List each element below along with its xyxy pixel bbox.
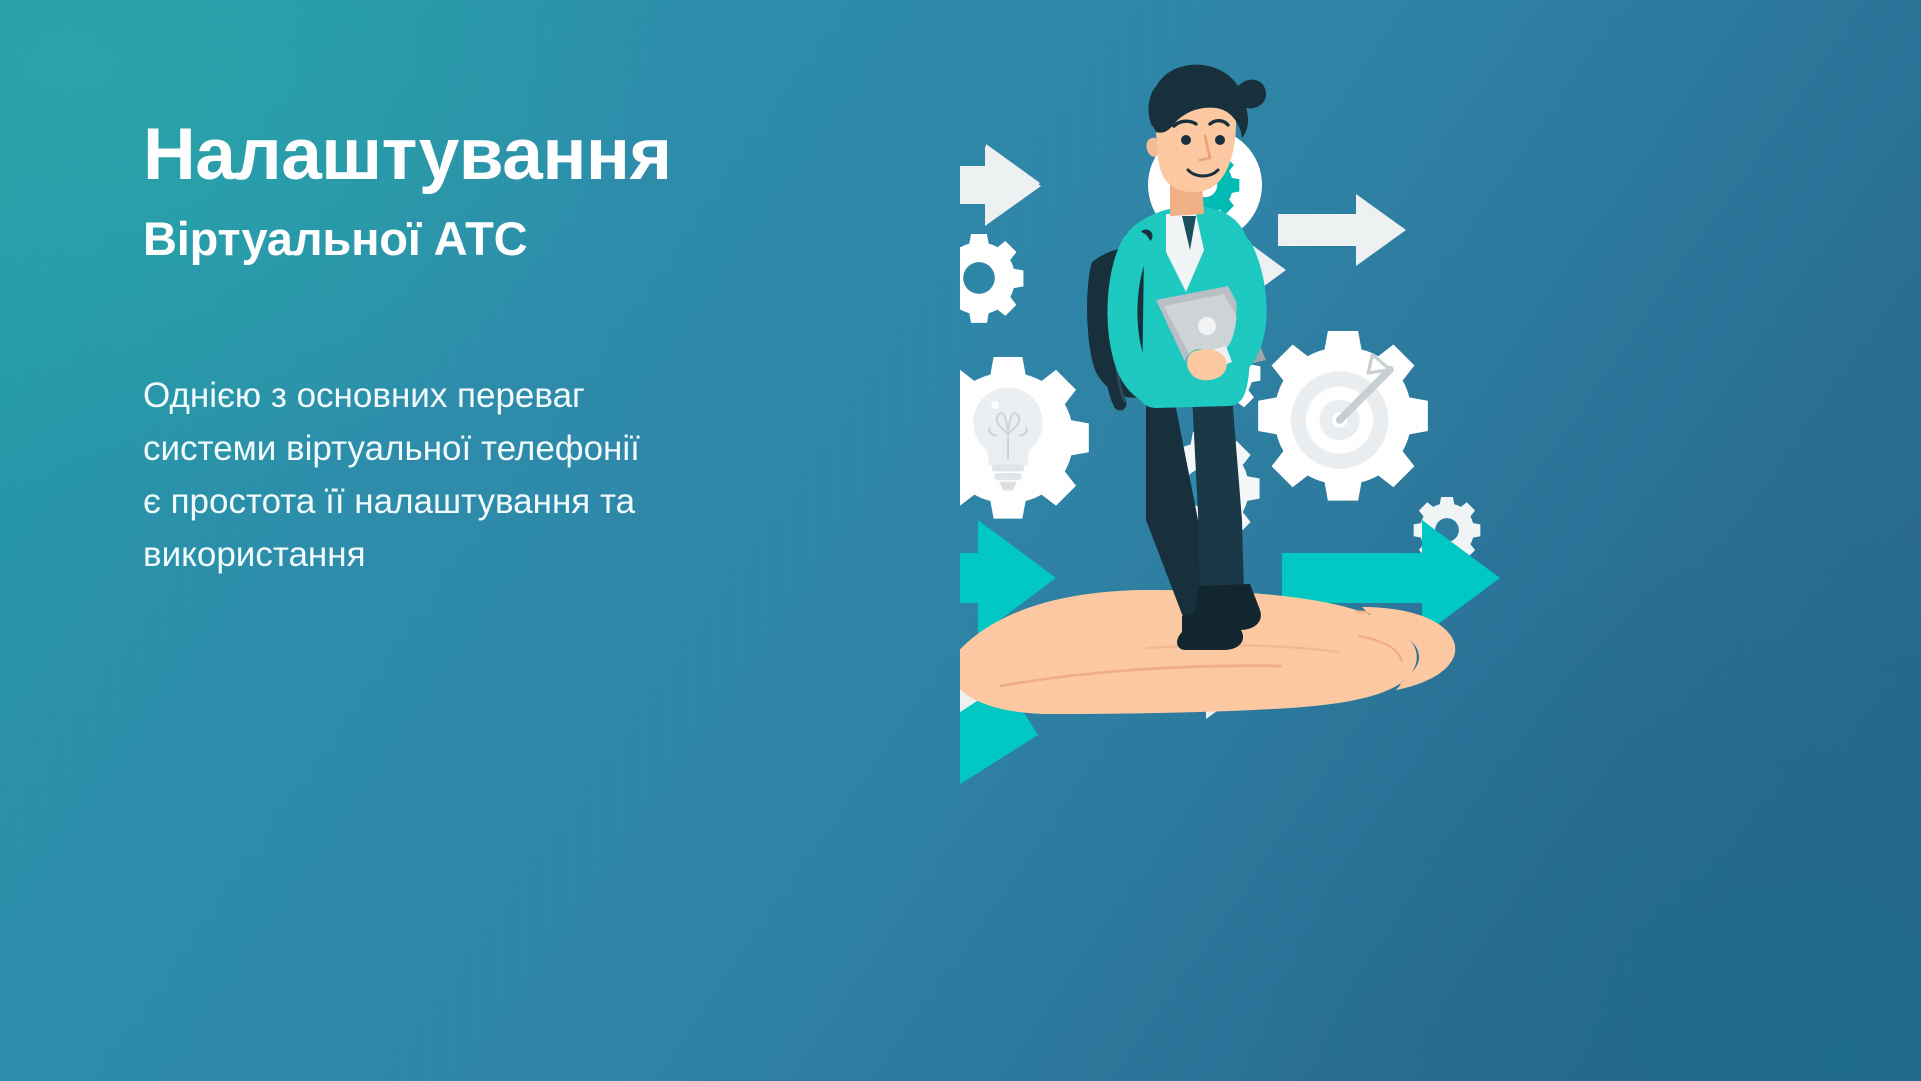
body-paragraph: Однією з основних переваг системи віртуа… <box>143 369 733 582</box>
arrow-right-icon-1 <box>960 146 1041 226</box>
body-line-3: є простота її налаштування та <box>143 475 733 528</box>
lightbulb-gear-icon <box>960 357 1089 519</box>
copy-block: Налаштування Віртуальної АТС Однією з ос… <box>143 118 843 582</box>
promo-banner: Налаштування Віртуальної АТС Однією з ос… <box>0 0 1921 1081</box>
target-gear-icon <box>1258 331 1428 501</box>
hero-illustration <box>960 0 1921 1081</box>
gear-icon-small-top <box>960 234 1023 323</box>
arrow-right-icon-2 <box>1278 194 1406 266</box>
body-line-4: використання <box>143 528 733 581</box>
page-title: Налаштування <box>143 118 843 192</box>
body-line-2: системи віртуальної телефонії <box>143 422 733 475</box>
page-subtitle: Віртуальної АТС <box>143 214 843 263</box>
body-line-1: Однією з основних переваг <box>143 369 733 422</box>
